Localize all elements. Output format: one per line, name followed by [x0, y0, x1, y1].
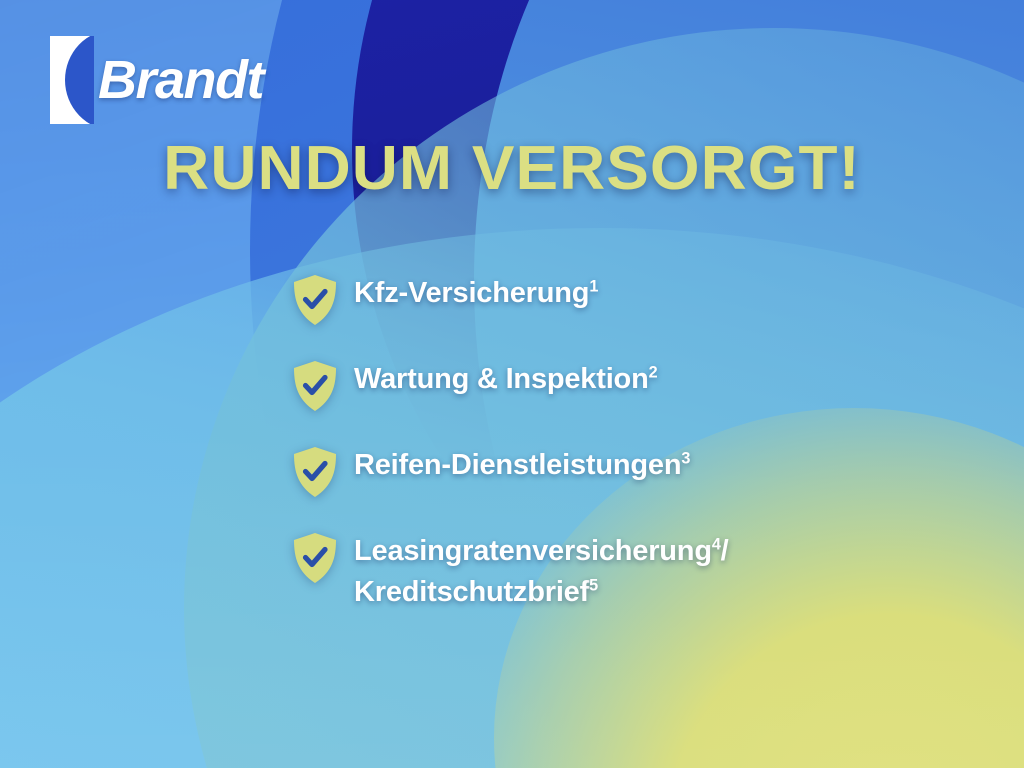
feature-list: Kfz-Versicherung1 Wartung & Inspektion2 … [292, 272, 932, 613]
feature-label: Wartung & Inspektion2 [354, 358, 657, 400]
shield-check-icon [292, 360, 338, 412]
shield-check-icon [292, 532, 338, 584]
feature-label: Leasingratenversicherung4/Kreditschutzbr… [354, 530, 729, 613]
shield-check-icon [292, 274, 338, 326]
footnote-marker: 2 [649, 363, 658, 381]
promo-banner: Brandt RUNDUM VERSORGT! Kfz-Versicherung… [0, 0, 1024, 768]
feature-label: Reifen-Dienstleistungen3 [354, 444, 690, 486]
footnote-marker: 5 [589, 577, 598, 595]
feature-separator: / [721, 535, 729, 567]
shield-check-icon [292, 446, 338, 498]
brand-logo: Brandt [50, 36, 263, 124]
footnote-marker: 1 [589, 277, 598, 295]
footnote-marker: 3 [681, 449, 690, 467]
list-item: Wartung & Inspektion2 [292, 358, 932, 412]
list-item: Kfz-Versicherung1 [292, 272, 932, 326]
feature-label: Kfz-Versicherung1 [354, 272, 598, 314]
list-item: Leasingratenversicherung4/Kreditschutzbr… [292, 530, 932, 613]
brand-name: Brandt [98, 53, 263, 107]
footnote-marker: 4 [712, 535, 721, 553]
bracket-icon [50, 36, 94, 124]
list-item: Reifen-Dienstleistungen3 [292, 444, 932, 498]
page-title: RUNDUM VERSORGT! [0, 133, 1024, 204]
